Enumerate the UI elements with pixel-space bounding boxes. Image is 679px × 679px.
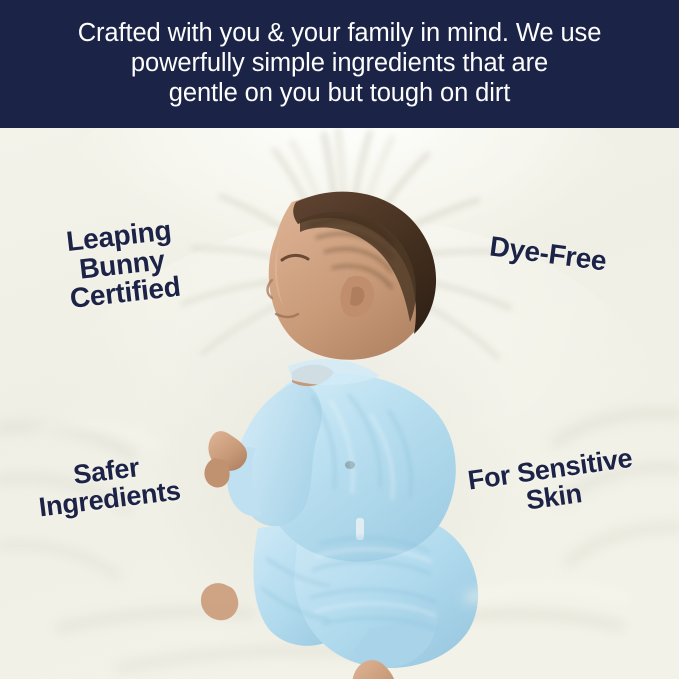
baby-photo-illustration	[0, 128, 679, 679]
header-line-3: gentle on you but tough on dirt	[169, 78, 510, 108]
header-banner: Crafted with you & your family in mind. …	[0, 0, 679, 128]
header-line-2: powerfully simple ingredients that are	[131, 48, 548, 78]
product-feature-image: Crafted with you & your family in mind. …	[0, 0, 679, 679]
header-line-1: Crafted with you & your family in mind. …	[78, 18, 602, 48]
baby-photo	[0, 128, 679, 679]
